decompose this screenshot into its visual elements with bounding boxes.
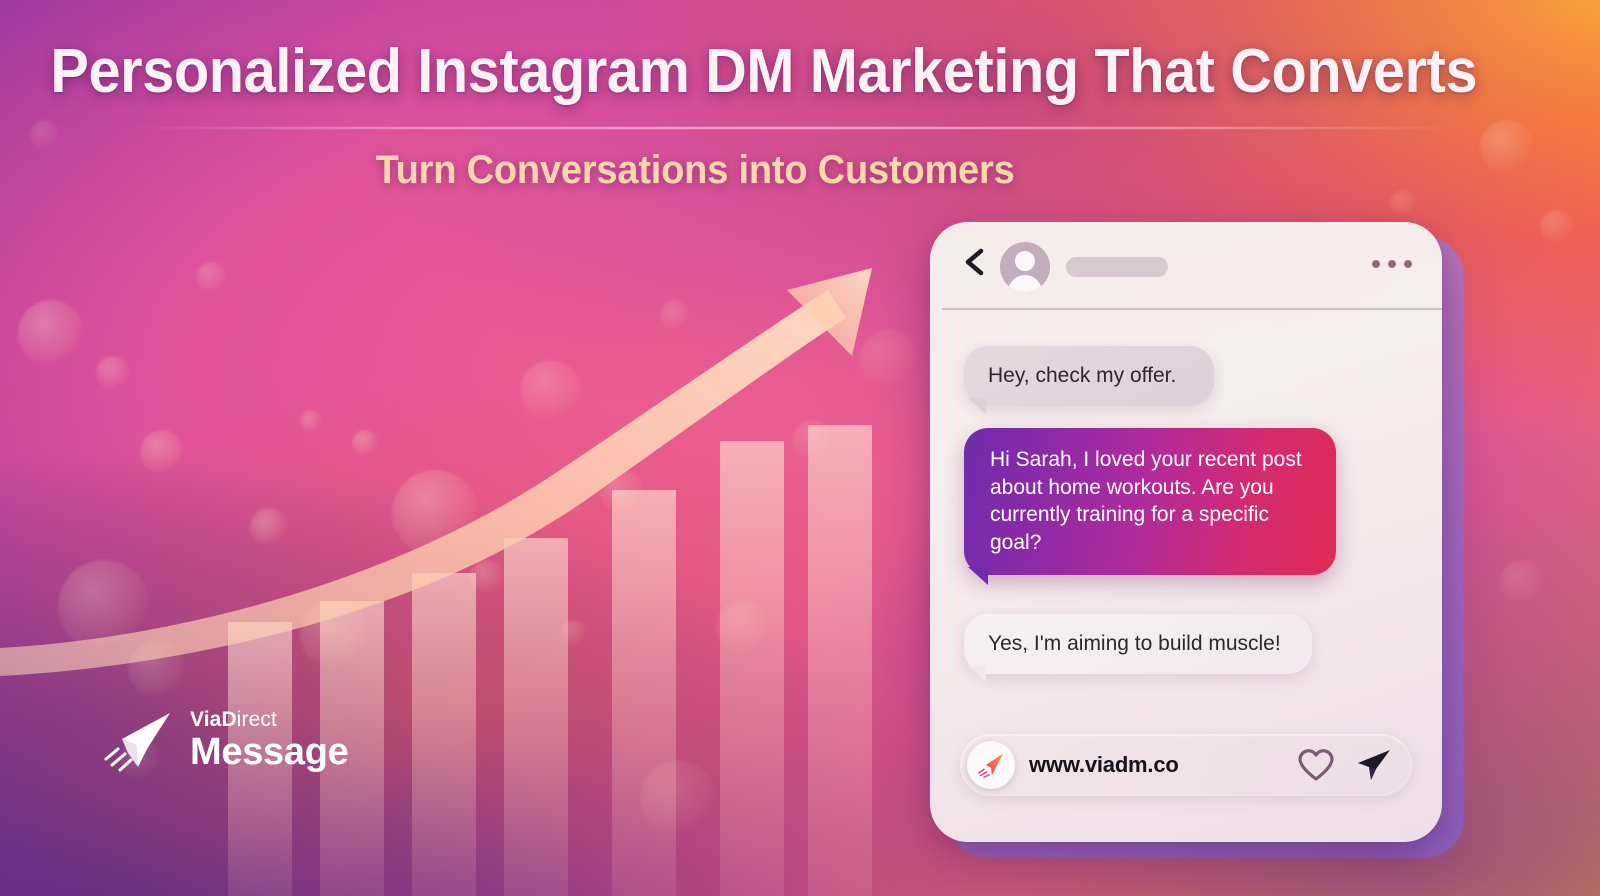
grain-overlay (0, 0, 1600, 896)
banner-canvas: Personalized Instagram DM Marketing That… (0, 0, 1600, 896)
